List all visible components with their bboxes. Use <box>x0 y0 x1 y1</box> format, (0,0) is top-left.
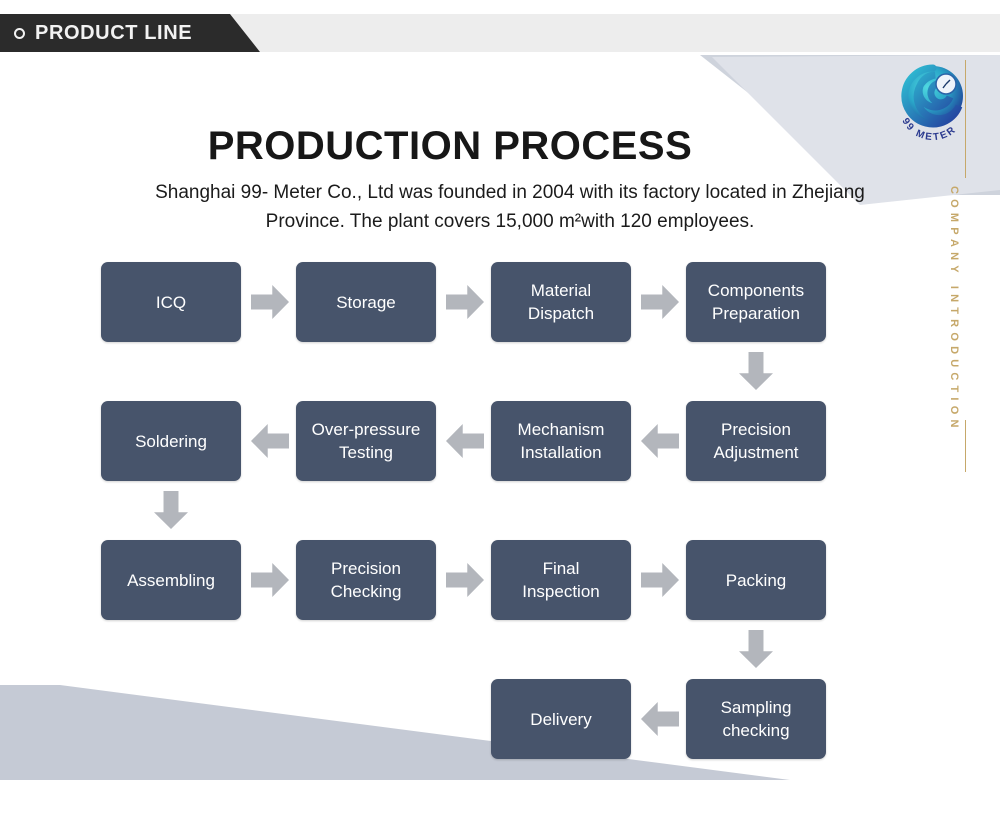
decorative-triangle-bottom-left <box>0 675 790 780</box>
process-box-precision-adjustment[interactable]: Precision Adjustment <box>686 401 826 481</box>
arrow-right-icon <box>251 285 289 319</box>
sidebar-rule-bottom <box>965 420 966 472</box>
sidebar-vertical-label: COMPANY INTRODUCTION <box>948 186 960 433</box>
process-box-soldering[interactable]: Soldering <box>101 401 241 481</box>
process-box-label-line1: Material <box>531 281 591 300</box>
process-box-label-line1: Sampling <box>721 698 792 717</box>
process-box-over-pressure-testing[interactable]: Over-pressure Testing <box>296 401 436 481</box>
process-box-label: Soldering <box>135 430 207 453</box>
process-box-label: Final Inspection <box>522 557 600 603</box>
process-box-label: Precision Checking <box>331 557 402 603</box>
process-box-label: Mechanism Installation <box>518 418 605 464</box>
process-box-assembling[interactable]: Assembling <box>101 540 241 620</box>
process-box-label: Material Dispatch <box>528 279 594 325</box>
slide-canvas: PRODUCT LINE PRODUCTION PROCESS Shanghai… <box>0 0 1000 832</box>
process-box-label-line1: Over-pressure <box>312 420 421 439</box>
process-box-label: Sampling checking <box>721 696 792 742</box>
process-box-components-preparation[interactable]: Components Preparation <box>686 262 826 342</box>
process-box-label-line1: Final <box>543 559 580 578</box>
process-box-material-dispatch[interactable]: Material Dispatch <box>491 262 631 342</box>
process-box-label-line2: Checking <box>331 582 402 601</box>
arrow-left-icon <box>251 424 289 458</box>
arrow-right-icon <box>446 285 484 319</box>
arrow-down-icon <box>154 491 188 529</box>
arrow-left-icon <box>446 424 484 458</box>
process-box-label: Storage <box>336 291 396 314</box>
process-box-label: Packing <box>726 569 786 592</box>
process-box-packing[interactable]: Packing <box>686 540 826 620</box>
process-box-label-line1: Mechanism <box>518 420 605 439</box>
process-box-label-line2: Dispatch <box>528 304 594 323</box>
header-divider <box>0 52 1000 54</box>
process-box-label-line1: Precision <box>331 559 401 578</box>
process-box-delivery[interactable]: Delivery <box>491 679 631 759</box>
arrow-right-icon <box>641 285 679 319</box>
page-title: PRODUCTION PROCESS <box>0 124 900 169</box>
circle-outline-icon <box>14 28 25 39</box>
process-box-label: Precision Adjustment <box>713 418 798 464</box>
arrow-right-icon <box>251 563 289 597</box>
header-tab-label: PRODUCT LINE <box>35 22 192 45</box>
process-box-label-line2: Adjustment <box>713 443 798 462</box>
process-box-precision-checking[interactable]: Precision Checking <box>296 540 436 620</box>
process-box-label: ICQ <box>156 291 186 314</box>
process-box-label-line2: Inspection <box>522 582 600 601</box>
arrow-down-icon <box>739 630 773 668</box>
arrow-left-icon <box>641 424 679 458</box>
process-box-label-line2: Preparation <box>712 304 800 323</box>
process-box-mechanism-installation[interactable]: Mechanism Installation <box>491 401 631 481</box>
process-box-label: Over-pressure Testing <box>312 418 421 464</box>
arrow-left-icon <box>641 702 679 736</box>
process-box-icq[interactable]: ICQ <box>101 262 241 342</box>
process-box-label-line1: Components <box>708 281 804 300</box>
process-box-label-line2: Testing <box>339 443 393 462</box>
99-meter-logo: 99 METER <box>892 60 974 142</box>
arrow-down-icon <box>739 352 773 390</box>
header-tab-product-line[interactable]: PRODUCT LINE <box>0 14 260 52</box>
page-description: Shanghai 99- Meter Co., Ltd was founded … <box>130 178 890 236</box>
process-box-sampling-checking[interactable]: Sampling checking <box>686 679 826 759</box>
process-box-label: Assembling <box>127 569 215 592</box>
process-box-label: Delivery <box>530 708 591 731</box>
process-box-label-line2: checking <box>722 721 789 740</box>
process-box-label-line1: Precision <box>721 420 791 439</box>
process-box-final-inspection[interactable]: Final Inspection <box>491 540 631 620</box>
arrow-right-icon <box>641 563 679 597</box>
arrow-right-icon <box>446 563 484 597</box>
process-box-label: Components Preparation <box>708 279 804 325</box>
process-box-label-line2: Installation <box>520 443 601 462</box>
process-box-storage[interactable]: Storage <box>296 262 436 342</box>
